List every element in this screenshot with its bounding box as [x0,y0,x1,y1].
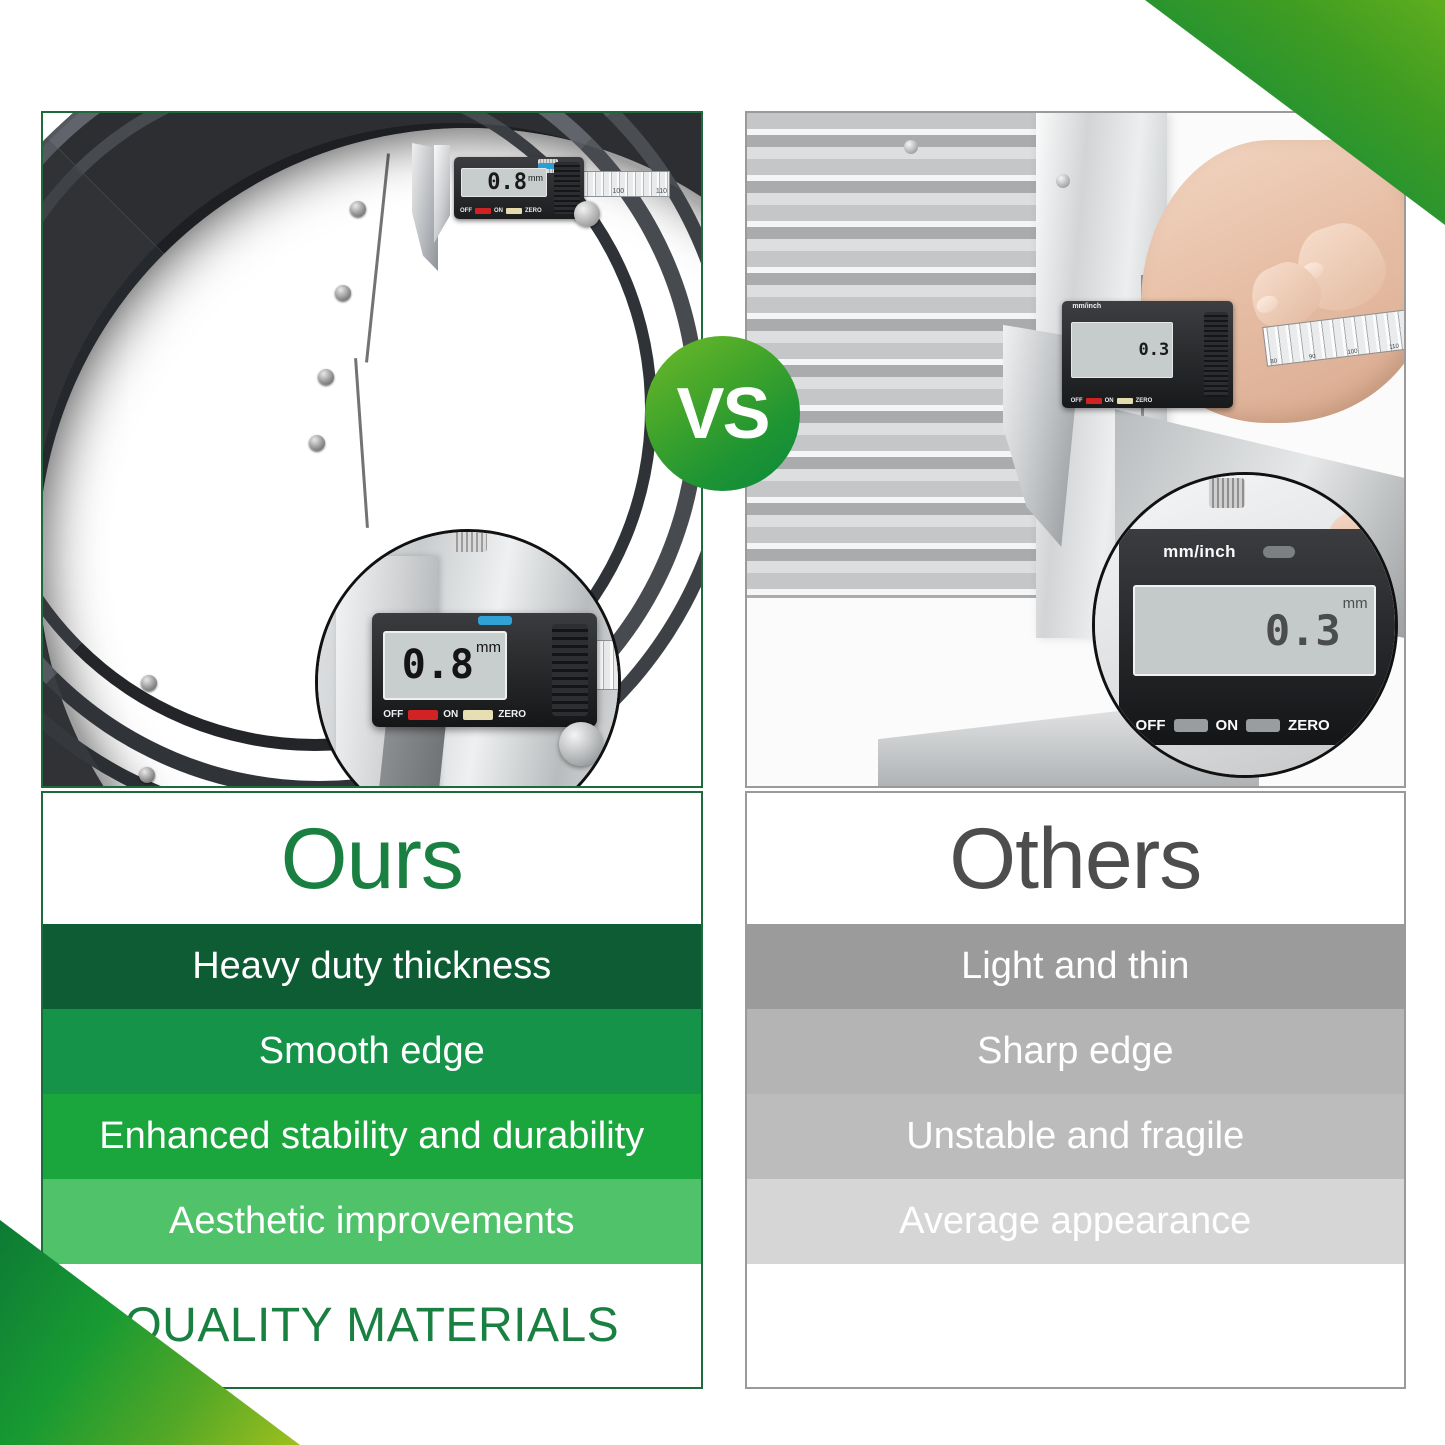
caliper-jaw-inner-icon [434,145,450,243]
inset-off-label: OFF [1136,717,1166,734]
bed-screw [141,675,157,691]
comparison-columns: 80 100 110 0.8 mm [41,111,1406,1389]
digital-caliper-others: 80 90 100 110 120 mm/inch 0.3 [1016,275,1345,423]
vs-label: VS [676,378,768,450]
inset-lcd-display: 0.8 mm [383,631,507,699]
ours-feature-label: Smooth edge [259,1030,485,1073]
inset-caliper-body: mm/inch 0.3 mm OFF ON ZERO [1119,529,1395,745]
inset-zero-switch [463,710,493,720]
ours-magnified-inset: 0.8 mm OFF ON ZERO [315,529,621,788]
caliper-knob-icon [574,201,600,227]
comparison-poster: 80 100 110 0.8 mm [0,0,1445,1445]
caliper-unit: mm [528,173,543,183]
thin-galvanized-panel-photo: 80 90 100 110 120 mm/inch 0.3 [747,113,1405,786]
caliper-zero-switch [1117,398,1133,404]
bed-screw [335,285,351,301]
metal-bolt [1056,174,1070,188]
ruler-tick: 100 [612,188,624,195]
caliper-grip-icon [1204,312,1228,397]
caliper-body: mm/inch 0.3 OFF ON ZERO [1062,301,1233,408]
inset-caliper-unit: mm [1343,595,1368,612]
column-others: 80 90 100 110 120 mm/inch 0.3 [745,111,1407,1389]
ours-feature-row: Enhanced stability and durability [43,1094,701,1179]
inset-on-label: ON [1216,717,1239,734]
ruler-tick: 100 [1347,349,1358,356]
caliper-off-label: OFF [1071,398,1083,404]
others-feature-label: Average appearance [899,1200,1251,1243]
column-ours: 80 100 110 0.8 mm [41,111,703,1389]
caliper-reading: 0.8 [487,172,527,194]
bed-screw [139,767,155,783]
bed-screw [350,201,366,217]
vs-badge: VS [645,336,800,491]
ours-title: Ours [43,793,701,924]
inset-zero-label: ZERO [1288,717,1330,734]
digital-caliper-ours: 80 100 110 0.8 mm [398,143,658,253]
inset-power-switch [408,710,438,720]
inset-mode-label: mm/inch [1163,542,1236,562]
caliper-on-label: ON [494,208,503,214]
caliper-lcd-display: 0.3 [1071,322,1174,377]
bed-screw [309,435,325,451]
caliper-on-label: ON [1105,398,1114,404]
caliper-zero-switch [506,208,522,214]
inset-caliper-body: 0.8 mm OFF ON ZERO [372,613,597,727]
inset-thumbwheel-icon [453,529,487,552]
caliper-mode-label: mm/inch [1072,303,1101,310]
ruler-tick: 110 [656,188,667,195]
others-feature-row: Light and thin [747,924,1405,1009]
ruler-tick: 90 [1309,354,1316,361]
caliper-zero-label: ZERO [525,208,542,214]
caliper-power-switch [1086,398,1102,404]
inset-zero-label: ZERO [498,709,526,720]
inset-off-label: OFF [383,709,403,720]
others-feature-row: Average appearance [747,1179,1405,1264]
others-magnified-inset: mm/inch 0.3 mm OFF ON ZERO [1092,472,1398,778]
ruler-tick: 80 [1270,359,1277,366]
inset-caliper-reading: 0.3 [1265,610,1341,652]
ours-feature-label: Enhanced stability and durability [99,1115,644,1158]
ours-feature-label: Aesthetic improvements [169,1200,575,1243]
caliper-off-label: OFF [460,208,472,214]
ours-feature-row: Heavy duty thickness [43,924,701,1009]
inset-power-switch [1174,719,1208,732]
ours-product-image: 80 100 110 0.8 mm [41,111,703,788]
ours-feature-panel: Ours Heavy duty thickness Smooth edge En… [41,791,703,1389]
inset-zero-switch [1246,719,1280,732]
others-feature-label: Light and thin [961,945,1189,988]
others-feature-row: Unstable and fragile [747,1094,1405,1179]
inset-caliper-unit: mm [476,639,501,656]
ours-feature-row: Aesthetic improvements [43,1179,701,1264]
caliper-zero-label: ZERO [1136,398,1153,404]
inset-thumbwheel-icon [1209,478,1245,508]
inset-mode-button [1263,546,1295,558]
others-feature-label: Unstable and fragile [906,1115,1244,1158]
others-feature-panel: Others Light and thin Sharp edge Unstabl… [745,791,1407,1389]
inset-lcd-display: 0.3 mm [1133,585,1376,676]
black-corrugated-garden-bed-photo: 80 100 110 0.8 mm [43,113,701,786]
inset-caliper-reading: 0.8 [402,645,474,685]
caliper-lcd-display: 0.8 mm [461,168,547,197]
others-product-image: 80 90 100 110 120 mm/inch 0.3 [745,111,1407,788]
quality-materials-label: QUALITY MATERIALS [124,1298,619,1353]
others-footer [747,1264,1405,1387]
caliper-reading: 0.3 [1138,342,1169,359]
bed-screw [318,369,334,385]
caliper-body: 0.8 mm OFF ON ZERO [454,157,584,219]
ours-feature-row: Smooth edge [43,1009,701,1094]
inset-blue-button [478,616,512,625]
others-feature-label: Sharp edge [977,1030,1174,1073]
ours-feature-label: Heavy duty thickness [192,945,551,988]
ruler-tick: 110 [1389,344,1399,351]
inset-grip-icon [552,624,588,715]
others-feature-row: Sharp edge [747,1009,1405,1094]
others-title: Others [747,793,1405,924]
caliper-power-switch [475,208,491,214]
inset-knob-icon [559,722,603,766]
inset-on-label: ON [443,709,458,720]
